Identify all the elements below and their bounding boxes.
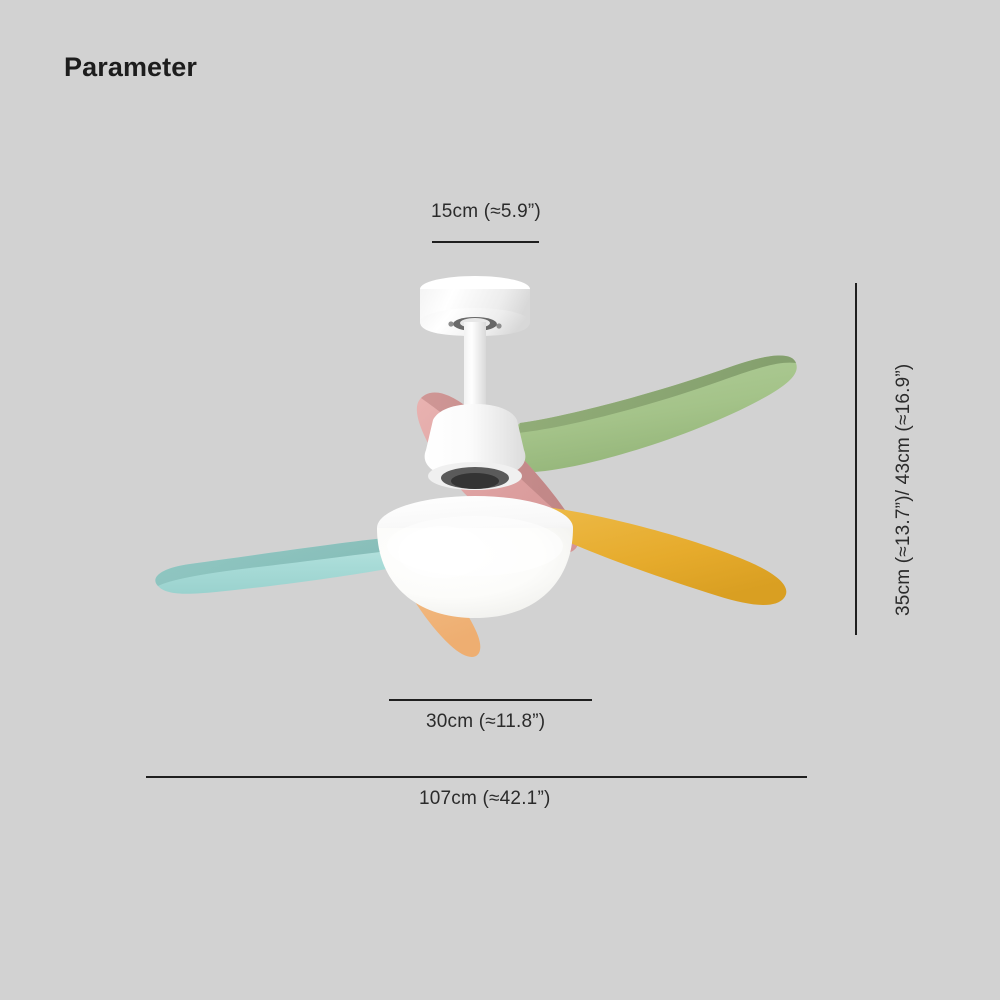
dimension-label-height: 35cm (≈13.7”)/ 43cm (≈16.9”) <box>893 364 915 616</box>
dimension-label-canopy-width: 15cm (≈5.9”) <box>431 201 631 223</box>
blade-green <box>511 356 797 473</box>
fan-motor-housing <box>425 404 526 490</box>
parameter-diagram-page: Parameter <box>0 0 1000 1000</box>
dimension-rule-light-width <box>389 699 592 701</box>
page-title: Parameter <box>64 52 197 83</box>
dimension-rule-canopy-width <box>432 241 539 243</box>
dimension-label-light-width: 30cm (≈11.8”) <box>426 711 545 733</box>
dimension-rule-height <box>855 283 857 635</box>
fan-downrod <box>464 322 486 418</box>
dimension-rule-blade-span <box>146 776 807 778</box>
ceiling-fan-illustration <box>120 260 820 680</box>
fan-light-kit <box>377 496 573 618</box>
dimension-label-blade-span: 107cm (≈42.1”) <box>419 788 551 810</box>
